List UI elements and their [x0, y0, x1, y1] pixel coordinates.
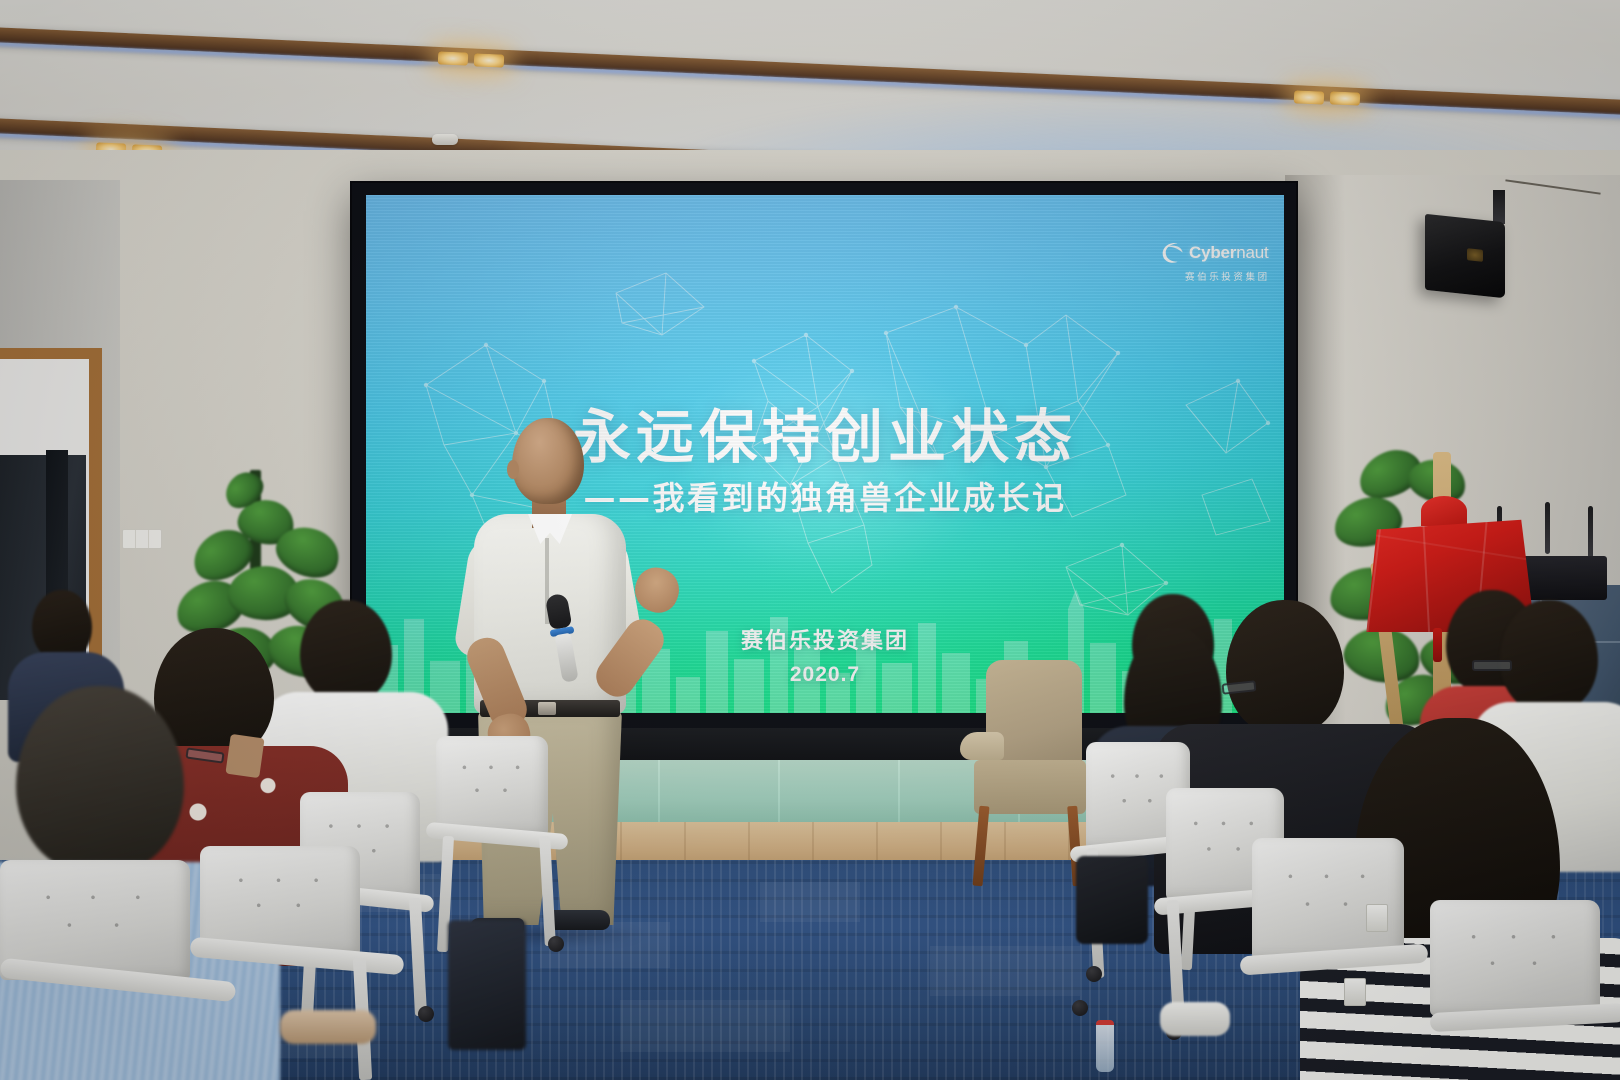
chair-caster	[1072, 1000, 1088, 1016]
presentation-photo-scene: Cybernaut 赛伯乐投资集团 永远保持创业状态 ——我看到的独角兽企业成长…	[0, 0, 1620, 1080]
eyeglasses-icon	[1472, 660, 1512, 671]
chair-caster	[418, 1006, 434, 1022]
handbag	[448, 920, 526, 1050]
speaker-mount-bracket	[1493, 190, 1505, 224]
ceiling-spotlight	[1330, 91, 1361, 105]
chair-caster	[548, 936, 564, 952]
sandal	[280, 1010, 376, 1044]
conference-chair[interactable]	[1430, 900, 1620, 1080]
router-antenna	[1545, 502, 1550, 554]
armchair-armrest	[960, 732, 1004, 760]
presenter-ear	[507, 460, 519, 479]
beige-armchair[interactable]	[960, 660, 1088, 890]
ceiling-spotlight	[1294, 90, 1325, 104]
ceiling-spotlight	[474, 53, 505, 67]
router-antenna	[1588, 506, 1593, 558]
backpack	[1076, 856, 1148, 944]
wall-speaker-icon	[1425, 214, 1505, 298]
presenter-head	[512, 418, 584, 504]
chair-caster	[1086, 966, 1102, 982]
light-switch-panel[interactable]	[122, 529, 162, 549]
ceiling-spotlight	[438, 51, 469, 65]
conference-chair[interactable]	[1246, 838, 1426, 1080]
name-badge	[1366, 904, 1388, 932]
conference-chair[interactable]	[196, 846, 406, 1080]
white-shoe	[1160, 1002, 1230, 1036]
water-bottle[interactable]	[1096, 1020, 1114, 1072]
armchair-leg	[973, 806, 990, 887]
smoke-detector-icon	[432, 134, 458, 145]
red-cloth-knot	[1421, 496, 1467, 526]
